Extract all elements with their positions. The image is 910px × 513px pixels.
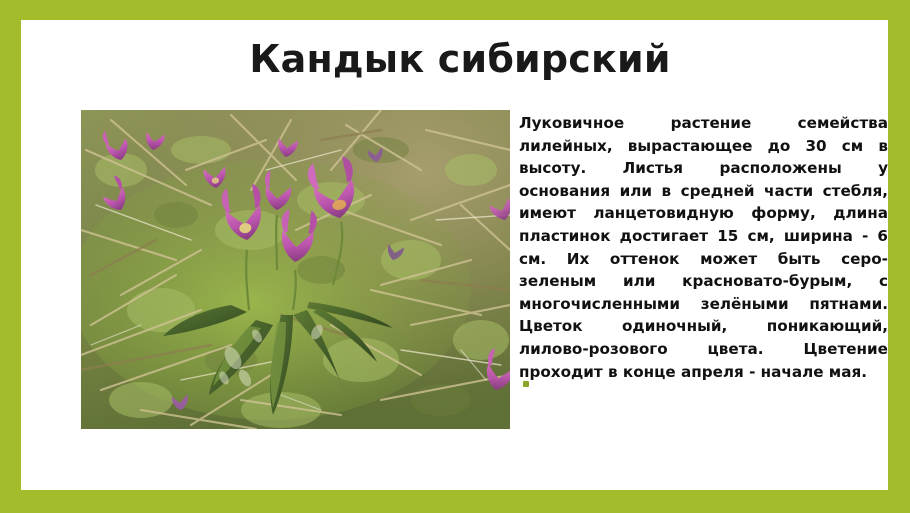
photo-artwork	[81, 110, 510, 429]
description-paragraph: Луковичное растение семейства лилейных, …	[519, 112, 888, 383]
bullet-marker-icon	[523, 381, 529, 387]
frame-border-left	[0, 0, 21, 513]
slide-canvas: Кандык сибирский	[0, 0, 910, 513]
frame-border-right	[888, 0, 910, 513]
frame-border-top	[0, 0, 910, 20]
bullet-list-item	[519, 374, 888, 396]
flower-meadow-photo	[81, 110, 510, 429]
frame-border-bottom	[0, 490, 910, 513]
page-title: Кандык сибирский	[60, 38, 860, 81]
